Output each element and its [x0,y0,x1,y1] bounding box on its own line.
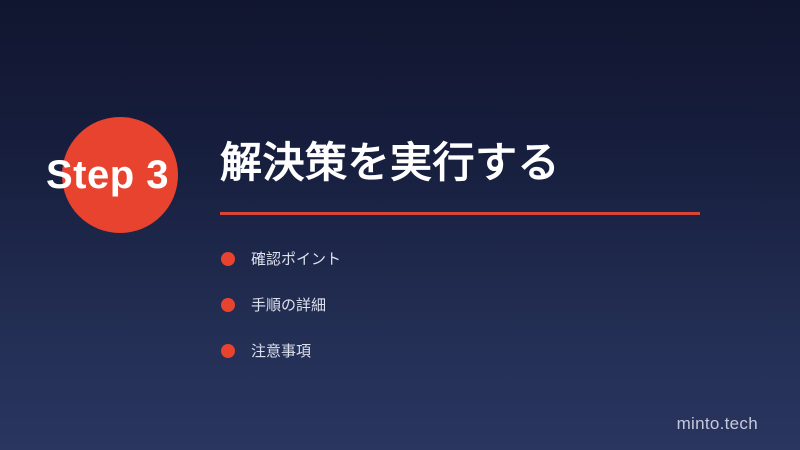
bullet-dot-icon [221,344,235,358]
footer-brand: minto.tech [677,414,758,434]
presentation-slide: Step 3 解決策を実行する 確認ポイント 手順の詳細 注意事項 minto.… [0,0,800,450]
bullet-list: 確認ポイント 手順の詳細 注意事項 [220,236,720,374]
bullet-dot-icon [221,298,235,312]
step-badge: Step 3 [0,0,220,280]
title-divider [220,212,700,215]
list-item: 手順の詳細 [220,282,720,328]
list-item: 注意事項 [220,328,720,374]
list-item-label: 確認ポイント [251,252,341,267]
page-title: 解決策を実行する [220,142,560,184]
slide-content: 解決策を実行する 確認ポイント 手順の詳細 注意事項 [220,0,780,450]
bullet-dot-icon [221,252,235,266]
list-item: 確認ポイント [220,236,720,282]
step-label: Step 3 [46,150,216,200]
list-item-label: 注意事項 [251,344,311,359]
list-item-label: 手順の詳細 [251,298,326,313]
